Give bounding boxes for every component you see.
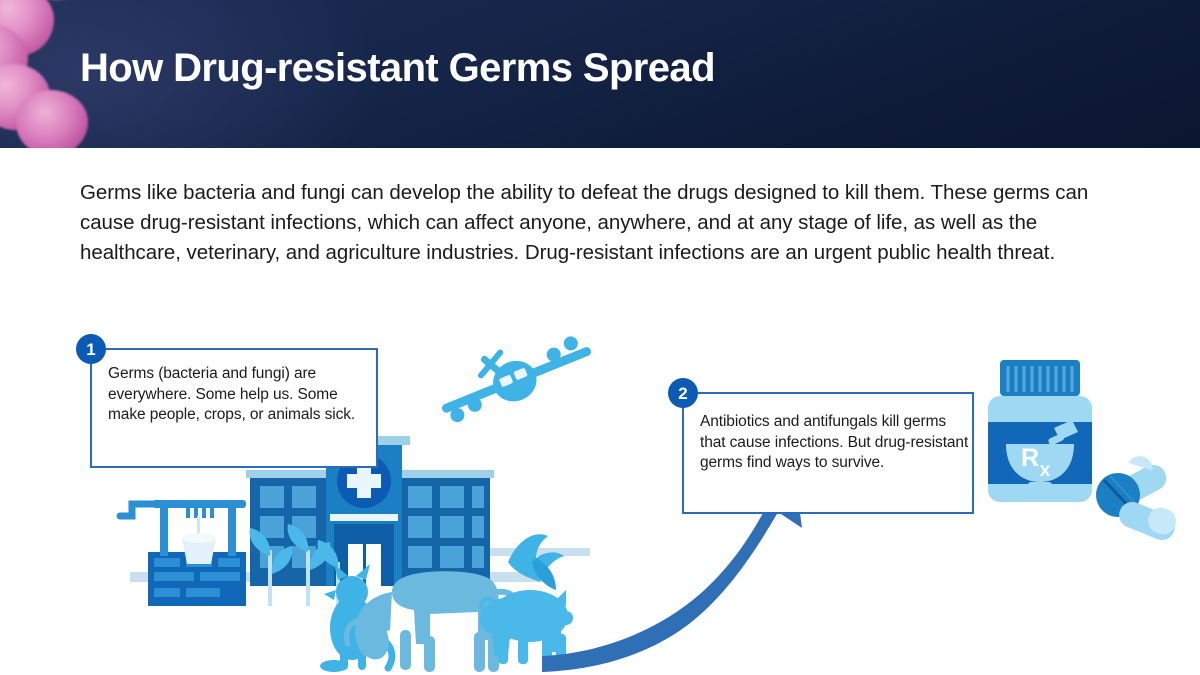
water-well-icon	[120, 500, 246, 606]
callout-step-1[interactable]: 1 Germs (bacteria and fungi) are everywh…	[76, 334, 386, 470]
pills-and-capsules-icon	[1096, 452, 1180, 544]
callout-2-number-badge: 2	[668, 378, 698, 408]
header-banner: How Drug-resistant Germs Spread	[0, 0, 1200, 148]
prescription-pill-bottle-icon: R x	[988, 360, 1092, 502]
callout-2-stem	[682, 406, 684, 420]
pig-icon	[480, 590, 573, 664]
well-post-left	[160, 506, 168, 556]
well-post-right	[228, 506, 236, 556]
svg-text:x: x	[1040, 460, 1051, 481]
callout-2-text: Antibiotics and antifungals kill germs t…	[700, 412, 970, 474]
callout-1-stem	[90, 362, 92, 376]
hospital-right-windows	[408, 486, 484, 568]
germ-cell	[16, 90, 88, 148]
airplane-icon	[429, 317, 598, 429]
page-title: How Drug-resistant Germs Spread	[80, 46, 715, 90]
well-beam	[152, 500, 246, 508]
callout-1-text: Germs (bacteria and fungi) are everywher…	[108, 364, 374, 426]
rx-label: R	[1021, 444, 1039, 472]
intro-paragraph: Germs like bacteria and fungi can develo…	[80, 178, 1110, 268]
infographic-page: How Drug-resistant Germs Spread Germs li…	[0, 0, 1200, 675]
callout-step-2[interactable]: 2 Antibiotics and antifungals kill germs…	[668, 378, 980, 522]
callout-1-number-badge: 1	[76, 334, 106, 364]
